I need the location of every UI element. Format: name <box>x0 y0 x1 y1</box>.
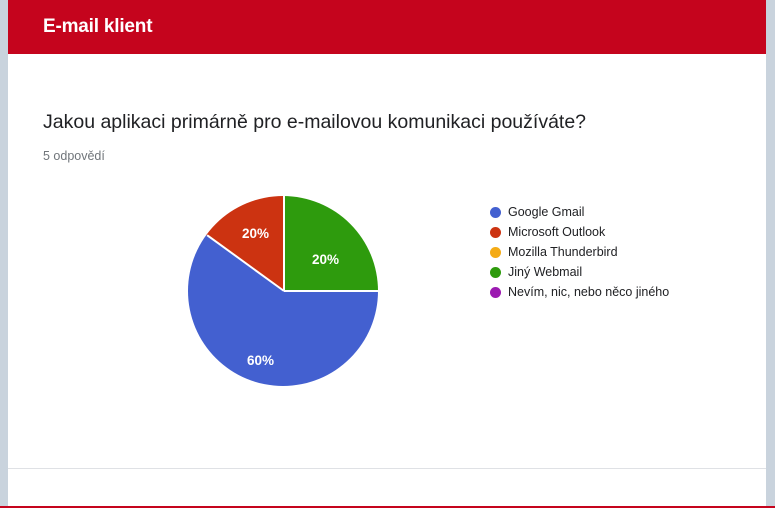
slice-separator <box>283 196 285 291</box>
form-summary-page: E-mail klient Jakou aplikaci primárně pr… <box>0 0 775 508</box>
pie-graphic: 20% 20% 60% <box>188 196 378 386</box>
slice-label-jiny-webmail: 20% <box>312 252 339 267</box>
chart-legend: Google Gmail Microsoft Outlook Mozilla T… <box>490 202 730 302</box>
pie-chart: 20% 20% 60% Google Gmail Microsoft Outlo… <box>8 176 766 426</box>
legend-item-label: Jiný Webmail <box>508 262 582 282</box>
right-gutter <box>766 0 775 508</box>
legend-color-dot-icon <box>490 207 501 218</box>
legend-color-dot-icon <box>490 287 501 298</box>
slice-label-google-gmail: 60% <box>247 353 274 368</box>
response-count: 5 odpovědí <box>43 148 105 164</box>
form-card: E-mail klient Jakou aplikaci primárně pr… <box>8 0 766 508</box>
legend-item: Nevím, nic, nebo něco jiného <box>490 282 730 302</box>
legend-color-dot-icon <box>490 227 501 238</box>
legend-item-label: Mozilla Thunderbird <box>508 242 618 262</box>
legend-item: Jiný Webmail <box>490 262 730 282</box>
legend-color-dot-icon <box>490 247 501 258</box>
section-divider <box>8 468 766 469</box>
legend-item: Google Gmail <box>490 202 730 222</box>
left-gutter <box>0 0 8 508</box>
legend-color-dot-icon <box>490 267 501 278</box>
slice-separator <box>284 290 379 292</box>
legend-item: Mozilla Thunderbird <box>490 242 730 262</box>
question-title: Jakou aplikaci primárně pro e-mailovou k… <box>43 110 586 135</box>
legend-item-label: Google Gmail <box>508 202 584 222</box>
slice-label-microsoft-outlook: 20% <box>242 226 269 241</box>
form-header-bar: E-mail klient <box>8 0 766 54</box>
form-title: E-mail klient <box>43 16 152 38</box>
legend-item: Microsoft Outlook <box>490 222 730 242</box>
legend-item-label: Microsoft Outlook <box>508 222 605 242</box>
legend-item-label: Nevím, nic, nebo něco jiného <box>508 282 669 302</box>
